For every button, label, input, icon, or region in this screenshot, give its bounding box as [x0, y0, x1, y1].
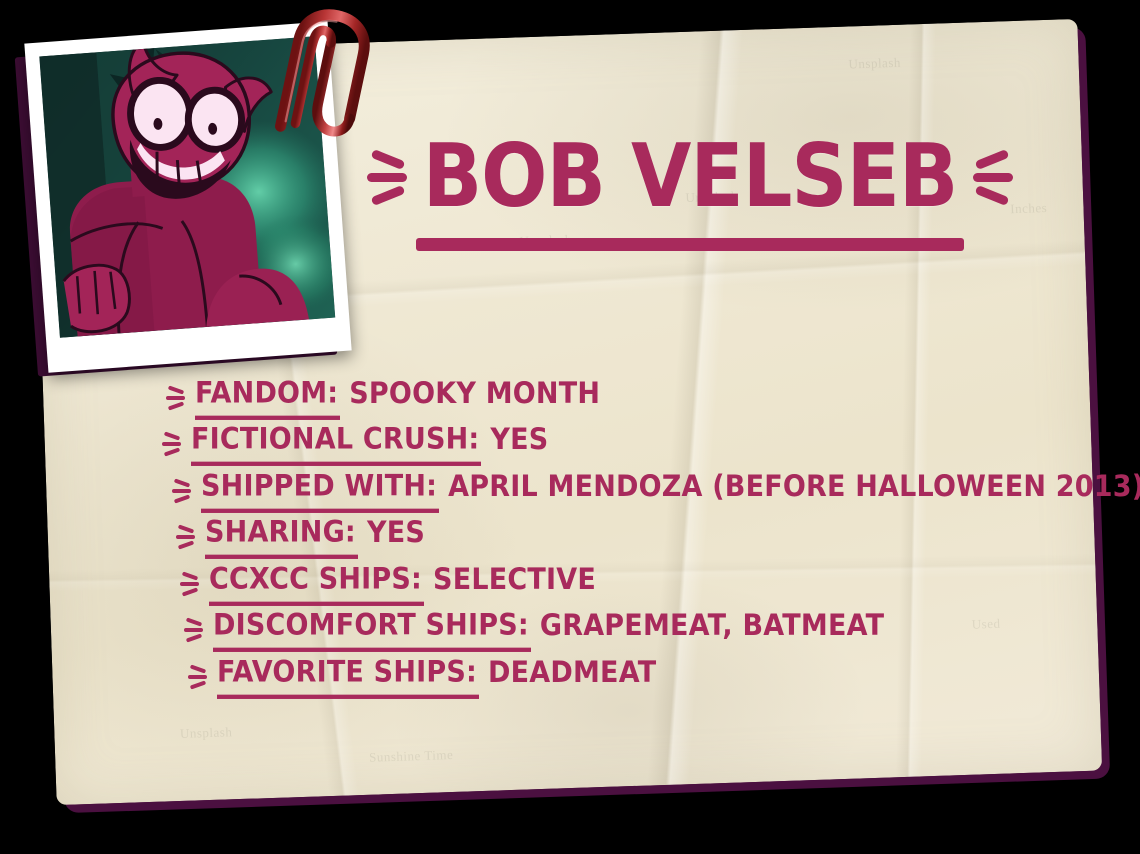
title-underline — [416, 238, 964, 251]
paper-ghost-word: Sunshine Time — [369, 747, 454, 766]
bullet-sparkle-icon — [186, 666, 208, 696]
page-title: BOB VELSEB — [423, 136, 958, 219]
paper-ghost-word: Unsplash — [848, 55, 901, 73]
detail-value: YES — [367, 514, 425, 553]
details-list: FANDOM:SPOOKY MONTHFICTIONAL CRUSH:YESSH… — [150, 378, 1050, 703]
bullet-sparkle-icon — [178, 573, 200, 603]
detail-row: SHARING:YES — [174, 517, 1050, 559]
detail-label: DISCOMFORT SHIPS: — [213, 607, 531, 653]
sparkle-left-icon — [363, 147, 409, 207]
title-row: BOB VELSEB — [380, 140, 1000, 214]
detail-label: SHIPPED WITH: — [201, 467, 439, 513]
bullet-sparkle-icon — [164, 387, 186, 417]
detail-label: CCXCC SHIPS: — [209, 560, 424, 606]
detail-value: APRIL MENDOZA (BEFORE HALLOWEEN 2013) — [448, 468, 1140, 507]
bullet-sparkle-icon — [174, 526, 196, 556]
bullet-sparkle-icon — [182, 619, 204, 649]
bullet-sparkle-icon — [170, 480, 192, 510]
detail-row: SHIPPED WITH:APRIL MENDOZA (BEFORE HALLO… — [170, 471, 1050, 513]
title-block: BOB VELSEB — [380, 140, 1000, 251]
detail-row: DISCOMFORT SHIPS:GRAPEMEAT, BATMEAT — [182, 610, 1050, 652]
detail-value: DEADMEAT — [488, 654, 656, 693]
character-card-canvas: Unsplash Inches Unsplash Unsplash Used U… — [0, 0, 1140, 854]
detail-row: FICTIONAL CRUSH:YES — [160, 424, 1050, 466]
sparkle-right-icon — [971, 147, 1017, 207]
detail-value: GRAPEMEAT, BATMEAT — [540, 607, 884, 646]
detail-label: FANDOM: — [195, 375, 340, 421]
bullet-sparkle-icon — [160, 433, 182, 463]
detail-label: FICTIONAL CRUSH: — [191, 421, 481, 467]
detail-row: FANDOM:SPOOKY MONTH — [164, 378, 1050, 420]
detail-row: CCXCC SHIPS:SELECTIVE — [178, 564, 1050, 606]
detail-value: YES — [490, 422, 548, 461]
detail-value: SPOOKY MONTH — [349, 375, 600, 414]
detail-label: SHARING: — [205, 514, 358, 560]
paper-ghost-word: Unsplash — [180, 724, 233, 742]
detail-value: SELECTIVE — [433, 561, 596, 600]
detail-row: FAVORITE SHIPS:DEADMEAT — [186, 657, 1050, 699]
detail-label: FAVORITE SHIPS: — [217, 653, 479, 699]
